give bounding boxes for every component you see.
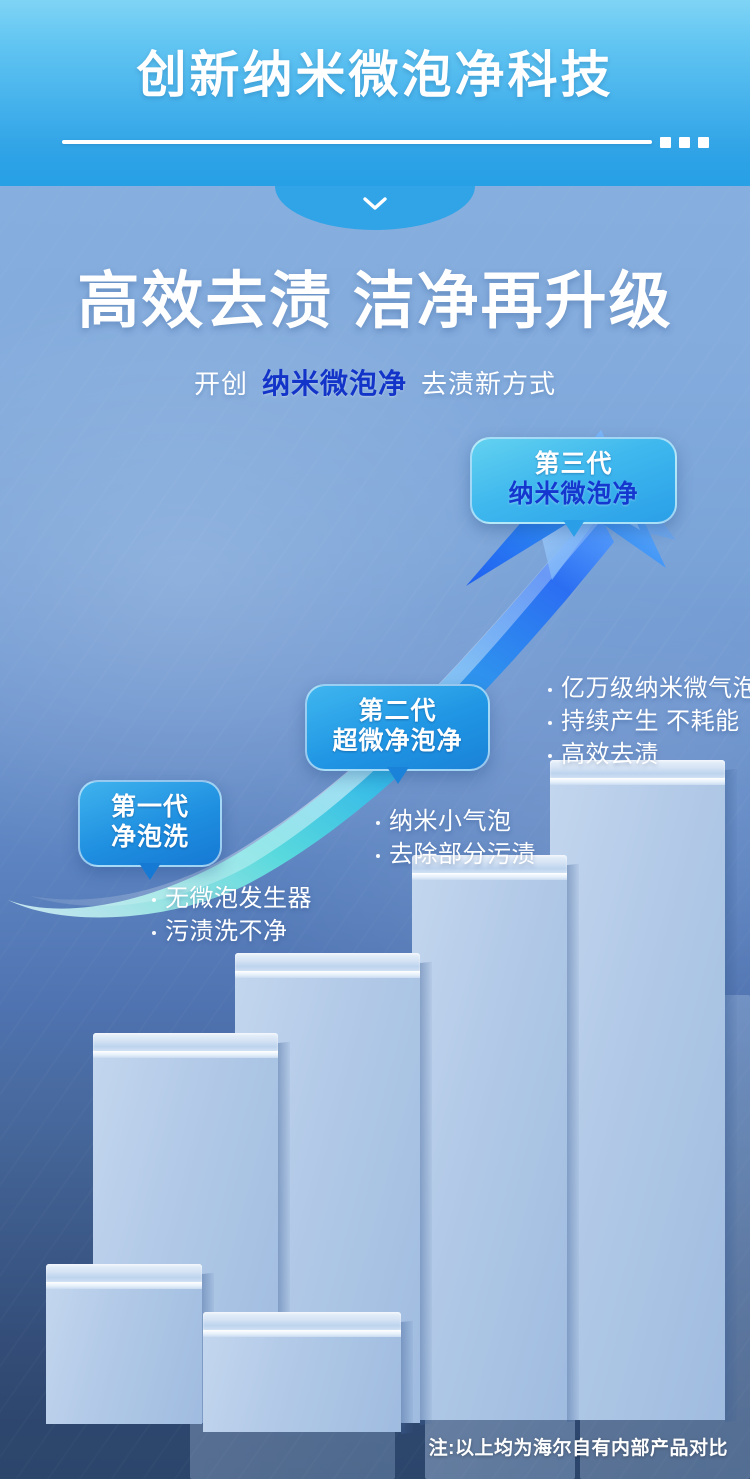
bullet-dot-icon <box>152 931 156 935</box>
bullet-item: 亿万级纳米微气泡 <box>548 672 750 705</box>
page-header: 创新纳米微泡净科技 <box>0 0 750 186</box>
bullet-item: 无微泡发生器 <box>152 882 312 915</box>
page-title: 创新纳米微泡净科技 <box>0 44 750 106</box>
chevron-down-icon[interactable] <box>362 196 388 212</box>
callout-gen2-line2: 超微净泡净 <box>325 726 470 757</box>
bullet-text: 污渍洗不净 <box>165 915 288 948</box>
bullets-gen3: 亿万级纳米微气泡 持续产生 不耗能 高效去渍 <box>548 672 750 771</box>
bar-top-cap <box>93 1033 278 1051</box>
bullet-dot-icon <box>548 688 552 692</box>
hero-title: 高效去渍 洁净再升级 <box>0 265 750 339</box>
callout-gen3-line2: 纳米微泡净 <box>490 479 657 510</box>
callout-gen1-tail <box>139 863 161 880</box>
three-dots-icon <box>660 137 709 148</box>
bar-top-edge <box>93 1051 278 1058</box>
bullet-text: 高效去渍 <box>561 738 659 771</box>
bar-side <box>401 1321 413 1434</box>
bullet-text: 无微泡发生器 <box>165 882 312 915</box>
callout-gen1-line1: 第一代 <box>98 792 202 822</box>
bar-face <box>46 1289 202 1424</box>
callout-gen3[interactable]: 第三代 纳米微泡净 <box>470 437 677 524</box>
bar-foreground-box-right <box>203 1312 401 1432</box>
hero-sub-highlight: 纳米微泡净 <box>262 368 407 399</box>
bullet-item: 纳米小气泡 <box>376 805 536 838</box>
header-divider <box>62 140 652 144</box>
hero-subtitle: 开创纳米微泡净去渍新方式 <box>0 365 750 403</box>
bullet-dot-icon <box>376 854 380 858</box>
bar-top-edge <box>203 1330 401 1337</box>
bar-side <box>567 864 579 1422</box>
bullet-dot-icon <box>548 754 552 758</box>
bullets-gen1: 无微泡发生器 污渍洗不净 <box>152 882 312 948</box>
callout-gen3-line1: 第三代 <box>490 449 657 479</box>
callout-gen3-tail <box>563 520 585 537</box>
hero-sub-before: 开创 <box>194 369 248 399</box>
bar-top-edge <box>46 1282 202 1289</box>
bar-gen-pedestal-mid <box>412 855 567 1420</box>
bar-face <box>412 880 567 1420</box>
callout-gen2-tail <box>387 767 409 784</box>
bar-top-edge <box>235 971 420 978</box>
bullet-item: 高效去渍 <box>548 738 750 771</box>
bullet-text: 持续产生 不耗能 <box>561 705 740 738</box>
bullets-gen2: 纳米小气泡 去除部分污渍 <box>376 805 536 871</box>
footnote: 注:以上均为海尔自有内部产品对比 <box>429 1433 728 1460</box>
bar-top-cap <box>235 953 420 971</box>
bullet-item: 去除部分污渍 <box>376 838 536 871</box>
hero-sub-after: 去渍新方式 <box>421 369 556 399</box>
callout-gen2[interactable]: 第二代 超微净泡净 <box>305 684 490 771</box>
bullet-text: 去除部分污渍 <box>389 838 536 871</box>
callout-gen1-line2: 净泡洗 <box>98 822 202 853</box>
bar-face <box>203 1337 401 1432</box>
bar-foreground-box-left <box>46 1264 202 1424</box>
callout-gen2-line1: 第二代 <box>325 696 470 726</box>
bullet-item: 持续产生 不耗能 <box>548 705 750 738</box>
bar-top-cap <box>203 1312 401 1330</box>
bullet-dot-icon <box>376 821 380 825</box>
poster-canvas: 创新纳米微泡净科技 高效去渍 洁净再升级 开创纳米微泡净去渍新方式 第三代 纳米… <box>0 0 750 1479</box>
bullet-item: 污渍洗不净 <box>152 915 312 948</box>
bar-side <box>420 962 432 1425</box>
callout-gen1[interactable]: 第一代 净泡洗 <box>78 780 222 867</box>
bar-top-cap <box>46 1264 202 1282</box>
bullet-dot-icon <box>152 898 156 902</box>
bullet-text: 纳米小气泡 <box>389 805 512 838</box>
bullet-dot-icon <box>548 721 552 725</box>
bullet-text: 亿万级纳米微气泡 <box>561 672 750 705</box>
